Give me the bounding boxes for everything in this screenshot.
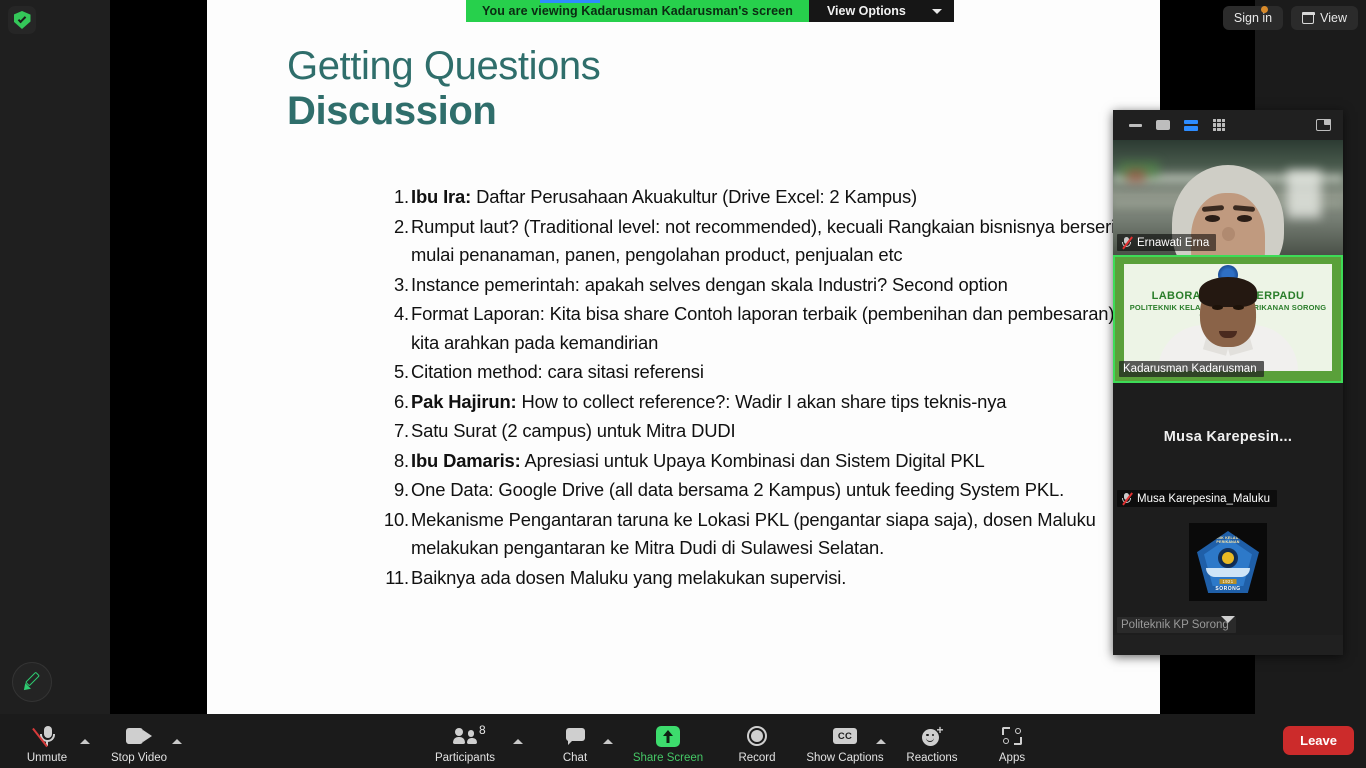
zoom-meeting-window: Getting Questions Discussion 1.Ibu Ira: … — [0, 0, 1366, 768]
slide-list-item: 2.Rumput laut? (Traditional level: not r… — [383, 213, 1123, 270]
unmute-label: Unmute — [27, 752, 67, 764]
video-tile-kadarusman[interactable]: LABORATORIUM TERPADU POLITEKNIK KELAUTAN… — [1113, 255, 1343, 383]
video-camera-icon — [126, 728, 152, 744]
slide-title: Getting Questions Discussion — [287, 44, 600, 134]
reactions-icon: + — [922, 727, 943, 746]
view-label: View — [1320, 11, 1347, 25]
shield-check-icon — [14, 11, 31, 29]
show-captions-label: Show Captions — [806, 752, 883, 764]
captions-options-caret-icon[interactable] — [876, 739, 886, 744]
list-item-text: One Data: Google Drive (all data bersama… — [411, 479, 1064, 500]
institution-logo-icon: POLITEKNIK KELAUTAN DAN PERIKANAN 1921 S… — [1197, 531, 1259, 593]
list-item-speaker: Ibu Ira: — [411, 186, 471, 207]
stop-video-button[interactable]: Stop Video — [96, 724, 182, 764]
list-item-text: Daftar Perusahaan Akuakultur (Drive Exce… — [471, 186, 917, 207]
list-item-number: 8. — [383, 447, 409, 476]
meeting-toolbar: Unmute Stop Video 8 Participants Chat Sh… — [0, 714, 1366, 768]
video-tile-ernawati[interactable]: Ernawati Erna — [1113, 140, 1343, 255]
list-item-text: Mekanisme Pengantaran taruna ke Lokasi P… — [411, 509, 1096, 559]
unmute-button[interactable]: Unmute — [4, 724, 90, 764]
show-captions-button[interactable]: CC Show Captions — [802, 724, 888, 764]
slide-list-item: 10.Mekanisme Pengantaran taruna ke Lokas… — [383, 506, 1123, 563]
banner-accent-bar — [540, 0, 600, 3]
participants-count: 8 — [479, 723, 486, 737]
microphone-muted-icon — [1121, 492, 1132, 505]
list-item-speaker: Ibu Damaris: — [411, 450, 521, 471]
view-options-button[interactable]: View Options — [809, 0, 954, 22]
slide-list-item: 11.Baiknya ada dosen Maluku yang melakuk… — [383, 564, 1123, 593]
list-item-text: Format Laporan: Kita bisa share Contoh l… — [411, 303, 1119, 353]
scroll-down-button[interactable] — [1215, 609, 1241, 629]
panel-header — [1113, 110, 1343, 140]
share-screen-button[interactable]: Share Screen — [625, 724, 711, 764]
participant-name-label: Musa Karepesina_Maluku — [1117, 490, 1277, 507]
sharing-banner: You are viewing Kadarusman Kadarusman's … — [466, 0, 954, 22]
chat-label: Chat — [563, 752, 587, 764]
single-view-icon[interactable] — [1149, 114, 1177, 136]
share-screen-icon — [656, 726, 680, 747]
participants-icon — [453, 728, 477, 744]
video-options-caret-icon[interactable] — [172, 739, 182, 744]
audio-options-caret-icon[interactable] — [80, 739, 90, 744]
slide-list-item: 5.Citation method: cara sitasi referensi — [383, 358, 1123, 387]
reactions-button[interactable]: + Reactions — [889, 724, 975, 764]
microphone-muted-icon — [1121, 236, 1132, 249]
view-options-label: View Options — [827, 4, 906, 18]
microphone-muted-icon — [39, 725, 56, 748]
list-item-text: Apresiasi untuk Upaya Kombinasi dan Sist… — [521, 450, 985, 471]
stage-left-strip — [0, 0, 110, 714]
participants-label: Participants — [435, 752, 495, 764]
list-item-text: Instance pemerintah: apakah selves denga… — [411, 274, 1008, 295]
participants-options-caret-icon[interactable] — [513, 739, 523, 744]
view-button[interactable]: View — [1291, 6, 1358, 30]
apps-label: Apps — [999, 752, 1025, 764]
minimize-icon[interactable] — [1121, 114, 1149, 136]
chat-button[interactable]: Chat — [532, 724, 618, 764]
sign-in-label: Sign in — [1234, 11, 1272, 25]
apps-icon — [1002, 727, 1022, 745]
share-screen-label: Share Screen — [633, 752, 703, 764]
video-tile-politeknik[interactable]: POLITEKNIK KELAUTAN DAN PERIKANAN 1921 S… — [1113, 511, 1343, 635]
record-label: Record — [738, 752, 775, 764]
leave-label: Leave — [1300, 733, 1337, 748]
shared-slide: Getting Questions Discussion 1.Ibu Ira: … — [207, 0, 1160, 714]
logo-year: 1921 — [1220, 579, 1237, 584]
slide-bullet-list: 1.Ibu Ira: Daftar Perusahaan Akuakultur … — [383, 183, 1123, 593]
slide-list-item: 1.Ibu Ira: Daftar Perusahaan Akuakultur … — [383, 183, 1123, 212]
chat-options-caret-icon[interactable] — [603, 739, 613, 744]
participant-name-label: Ernawati Erna — [1117, 234, 1216, 251]
notification-dot — [1261, 6, 1268, 13]
participant-name-text: Politeknik KP Sorong — [1121, 619, 1229, 631]
participant-name-text: Musa Karepesina_Maluku — [1137, 493, 1270, 505]
list-item-number: 11. — [377, 564, 409, 593]
chevron-down-icon — [1221, 616, 1235, 623]
chevron-down-icon — [932, 9, 942, 14]
record-icon — [747, 726, 767, 746]
slide-title-line1: Getting Questions — [287, 44, 600, 89]
participants-video-panel: Ernawati Erna LABORATORIUM TERPADU POLIT… — [1113, 110, 1343, 655]
stop-video-label: Stop Video — [111, 752, 167, 764]
record-button[interactable]: Record — [714, 724, 800, 764]
apps-button[interactable]: Apps — [969, 724, 1055, 764]
slide-list-item: 8.Ibu Damaris: Apresiasi untuk Upaya Kom… — [383, 447, 1123, 476]
list-item-text: Rumput laut? (Traditional level: not rec… — [411, 216, 1120, 266]
slide-list-item: 7.Satu Surat (2 campus) untuk Mitra DUDI — [383, 417, 1123, 446]
video-tile-musa[interactable]: Musa Karepesin... Musa Karepesina_Maluku — [1113, 383, 1343, 511]
list-item-number: 10. — [377, 506, 409, 535]
calendar-icon — [1302, 13, 1314, 24]
list-item-number: 2. — [383, 213, 409, 242]
chat-bubble-icon — [566, 728, 585, 745]
participant-name-text: Kadarusman Kadarusman — [1123, 363, 1257, 375]
slide-list-item: 9.One Data: Google Drive (all data bersa… — [383, 476, 1123, 505]
list-item-speaker: Pak Hajirun: — [411, 391, 517, 412]
participant-name-label: Kadarusman Kadarusman — [1119, 361, 1264, 377]
avatar: POLITEKNIK KELAUTAN DAN PERIKANAN 1921 S… — [1189, 523, 1267, 601]
list-item-text: Citation method: cara sitasi referensi — [411, 361, 704, 382]
list-item-text: Baiknya ada dosen Maluku yang melakukan … — [411, 567, 846, 588]
meeting-security-button[interactable] — [8, 6, 36, 34]
sign-in-button[interactable]: Sign in — [1223, 6, 1283, 30]
top-right-actions: Sign in View — [1223, 6, 1358, 30]
slide-title-line2: Discussion — [287, 89, 600, 134]
list-item-number: 3. — [383, 271, 409, 300]
sharing-status-text: You are viewing Kadarusman Kadarusman's … — [466, 0, 809, 22]
split-view-icon[interactable] — [1177, 114, 1205, 136]
leave-button[interactable]: Leave — [1283, 726, 1354, 755]
reactions-label: Reactions — [906, 752, 957, 764]
list-item-text: Satu Surat (2 campus) untuk Mitra DUDI — [411, 420, 735, 441]
list-item-text: How to collect reference?: Wadir I akan … — [517, 391, 1007, 412]
list-item-number: 7. — [383, 417, 409, 446]
list-item-number: 9. — [383, 476, 409, 505]
logo-bottom-text: SORONG — [1197, 586, 1259, 592]
participants-button[interactable]: 8 Participants — [422, 724, 508, 764]
slide-list-item: 4.Format Laporan: Kita bisa share Contoh… — [383, 300, 1123, 357]
picture-in-picture-icon[interactable] — [1309, 114, 1337, 136]
slide-list-item: 6.Pak Hajirun: How to collect reference?… — [383, 388, 1123, 417]
pencil-icon — [23, 673, 41, 691]
slide-list-item: 3.Instance pemerintah: apakah selves den… — [383, 271, 1123, 300]
participant-name-text: Ernawati Erna — [1137, 237, 1209, 249]
list-item-number: 4. — [383, 300, 409, 329]
list-item-number: 6. — [383, 388, 409, 417]
logo-top-text: POLITEKNIK KELAUTAN DAN PERIKANAN — [1197, 536, 1259, 544]
list-item-number: 1. — [383, 183, 409, 212]
closed-captions-icon: CC — [833, 728, 857, 744]
video-off-placeholder: Musa Karepesin... — [1113, 429, 1343, 445]
list-item-number: 5. — [383, 358, 409, 387]
annotate-button[interactable] — [12, 662, 52, 702]
grid-view-icon[interactable] — [1205, 114, 1233, 136]
